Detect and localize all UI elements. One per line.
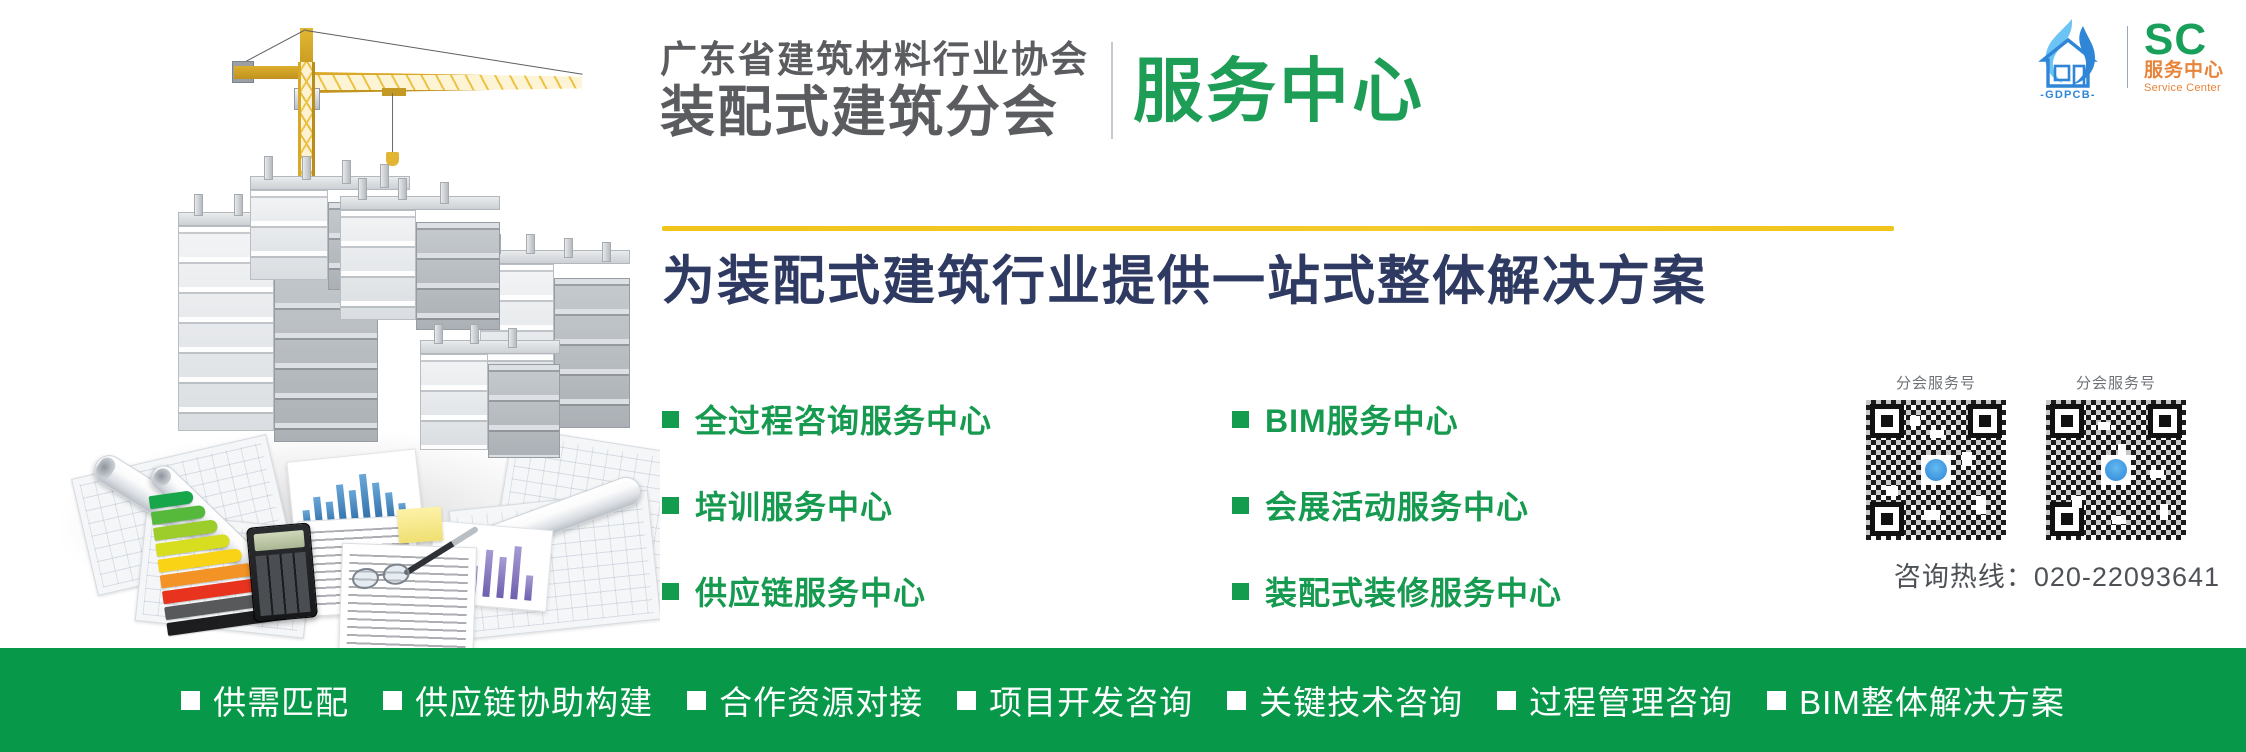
logo-divider xyxy=(2127,26,2128,88)
organization-name-group: 广东省建筑材料行业协会 装配式建筑分会 xyxy=(660,38,1089,143)
footer-item[interactable]: 过程管理咨询 xyxy=(1497,676,1733,724)
service-label: BIM服务中心 xyxy=(1265,396,1459,442)
service-center-list: 全过程咨询服务中心 BIM服务中心 培训服务中心 会展活动服务中心 供应链服务中… xyxy=(662,396,1812,614)
square-bullet-icon xyxy=(662,411,679,428)
calculator-icon xyxy=(246,522,318,622)
service-label: 会展活动服务中心 xyxy=(1265,482,1529,528)
service-list-item[interactable]: 全过程咨询服务中心 xyxy=(662,396,1232,442)
square-bullet-icon xyxy=(1232,411,1249,428)
square-bullet-icon xyxy=(1767,691,1786,710)
application-form-document xyxy=(338,543,477,648)
square-bullet-icon xyxy=(1232,497,1249,514)
crane-counter-jib xyxy=(234,66,306,79)
footer-item-label: 关键技术咨询 xyxy=(1259,676,1463,724)
service-list-item[interactable]: 培训服务中心 xyxy=(662,482,1232,528)
logo-mark-caption: -GDPCB- xyxy=(2025,89,2111,101)
organization-name-line2: 装配式建筑分会 xyxy=(660,82,1089,144)
crane-tie-cable xyxy=(306,30,583,75)
qr-code-icon[interactable] xyxy=(2046,400,2186,540)
square-bullet-icon xyxy=(383,691,402,710)
footer-item[interactable]: BIM整体解决方案 xyxy=(1767,676,2065,724)
service-center-title: 服务中心 xyxy=(1133,56,1425,126)
service-label: 供应链服务中心 xyxy=(695,568,926,614)
service-list-item[interactable]: 会展活动服务中心 xyxy=(1232,482,1812,528)
logo-english-name: Service Center xyxy=(2144,82,2221,94)
calculator-keypad xyxy=(255,552,310,616)
footer-item[interactable]: 项目开发咨询 xyxy=(957,676,1193,724)
organization-name-line1: 广东省建筑材料行业协会 xyxy=(660,38,1089,82)
footer-item-label: 合作资源对接 xyxy=(719,676,923,724)
service-list-item[interactable]: BIM服务中心 xyxy=(1232,396,1812,442)
building-block-front-right xyxy=(420,340,560,470)
crane-jib-icon xyxy=(312,72,582,93)
footer-item-label: BIM整体解决方案 xyxy=(1799,676,2065,724)
page-title: 广东省建筑材料行业协会 装配式建筑分会 服务中心 xyxy=(660,38,1425,143)
tagline-text: 为装配式建筑行业提供一站式整体解决方案 xyxy=(662,252,1707,313)
house-flame-icon: -GDPCB- xyxy=(2025,14,2111,100)
headline-divider xyxy=(1111,42,1113,139)
calculator-display xyxy=(254,530,305,551)
square-bullet-icon xyxy=(662,583,679,600)
square-bullet-icon xyxy=(1227,691,1246,710)
square-bullet-icon xyxy=(1232,583,1249,600)
qr-code-item[interactable]: 分会服务号 xyxy=(1866,372,2006,540)
qr-code-caption: 分会服务号 xyxy=(2046,372,2186,393)
square-bullet-icon xyxy=(1497,691,1516,710)
footer-item-label: 项目开发咨询 xyxy=(989,676,1193,724)
service-label: 培训服务中心 xyxy=(695,482,893,528)
qr-code-icon[interactable] xyxy=(1866,400,2006,540)
footer-item[interactable]: 供应链协助构建 xyxy=(383,676,653,724)
hotline-text: 咨询热线：020-22093641 xyxy=(1894,555,2220,594)
qr-code-item[interactable]: 分会服务号 xyxy=(2046,372,2186,540)
crane-trolley xyxy=(382,88,406,96)
association-logo-lockup: -GDPCB- SC 服务中心 Service Center xyxy=(2025,14,2224,100)
footer-item-list: 供需匹配 供应链协助构建 合作资源对接 项目开发咨询 关键技术咨询 过程管理咨询 xyxy=(181,676,2065,724)
logo-chinese-name: 服务中心 xyxy=(2144,61,2224,82)
gold-divider-rule xyxy=(662,226,1894,231)
service-label: 全过程咨询服务中心 xyxy=(695,396,992,442)
footer-item[interactable]: 合作资源对接 xyxy=(687,676,923,724)
service-label: 装配式装修服务中心 xyxy=(1265,568,1562,614)
square-bullet-icon xyxy=(957,691,976,710)
logo-text-group: SC 服务中心 Service Center xyxy=(2144,20,2224,93)
footer-item-label: 过程管理咨询 xyxy=(1529,676,1733,724)
footer-bar: 供需匹配 供应链协助构建 合作资源对接 项目开发咨询 关键技术咨询 过程管理咨询 xyxy=(0,648,2246,752)
hero-construction-illustration xyxy=(0,0,660,648)
service-center-banner: -GDPCB- SC 服务中心 Service Center 广东省建筑材料行业… xyxy=(0,0,2246,752)
footer-item[interactable]: 供需匹配 xyxy=(181,676,349,724)
square-bullet-icon xyxy=(687,691,706,710)
crane-hoist-line xyxy=(392,93,393,155)
qr-code-block: 分会服务号 分会服务号 xyxy=(1866,372,2226,540)
footer-item-label: 供应链协助构建 xyxy=(415,676,653,724)
square-bullet-icon xyxy=(662,497,679,514)
service-list-item[interactable]: 供应链服务中心 xyxy=(662,568,1232,614)
logo-abbreviation: SC xyxy=(2144,20,2207,60)
footer-item[interactable]: 关键技术咨询 xyxy=(1227,676,1463,724)
footer-item-label: 供需匹配 xyxy=(213,676,349,724)
banner-content: -GDPCB- SC 服务中心 Service Center 广东省建筑材料行业… xyxy=(660,0,2246,648)
sticky-note-icon xyxy=(397,507,443,544)
service-list-item[interactable]: 装配式装修服务中心 xyxy=(1232,568,1812,614)
qr-code-caption: 分会服务号 xyxy=(1866,372,2006,393)
square-bullet-icon xyxy=(181,691,200,710)
